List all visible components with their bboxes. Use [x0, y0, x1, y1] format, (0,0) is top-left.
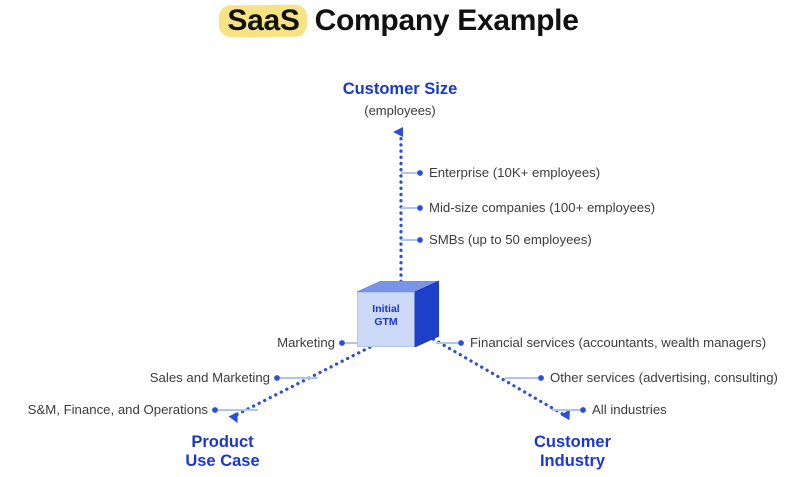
title-highlight: SaaS	[221, 4, 306, 38]
axis-title-customer-industry: Customer Industry	[490, 433, 655, 471]
tick-label-mid-size: Mid-size companies (100+ employees)	[429, 201, 655, 215]
axis-title-product-use-case-line1: Product	[140, 433, 305, 452]
tick-label-marketing: Marketing	[5, 336, 335, 350]
axis-title-product-use-case: Product Use Case	[140, 433, 305, 471]
axis-title-product-use-case-line2: Use Case	[140, 452, 305, 471]
tick-label-financial-services: Financial services (accountants, wealth …	[470, 336, 766, 350]
axis-title-customer-industry-line1: Customer	[490, 433, 655, 452]
tick-label-enterprise: Enterprise (10K+ employees)	[429, 166, 600, 180]
cube-label: Initial GTM	[357, 303, 415, 328]
axis-vertical-ticks	[401, 170, 423, 243]
axis-title-customer-size: Customer Size	[0, 80, 800, 99]
center-node-cube: Initial GTM	[357, 281, 439, 347]
axis-title-customer-industry-line2: Industry	[490, 452, 655, 471]
tick-label-other-services: Other services (advertising, consulting)	[550, 371, 778, 385]
tick-label-smbs: SMBs (up to 50 employees)	[429, 233, 592, 247]
tick-label-sales-and-marketing: Sales and Marketing	[5, 371, 270, 385]
axis-subtitle-employees: (employees)	[0, 103, 800, 118]
tick-label-all-industries: All industries	[592, 403, 667, 417]
tick-label-sm-finance-operations: S&M, Finance, and Operations	[5, 403, 208, 417]
diagram-canvas: SaaS Company Example	[0, 0, 800, 477]
